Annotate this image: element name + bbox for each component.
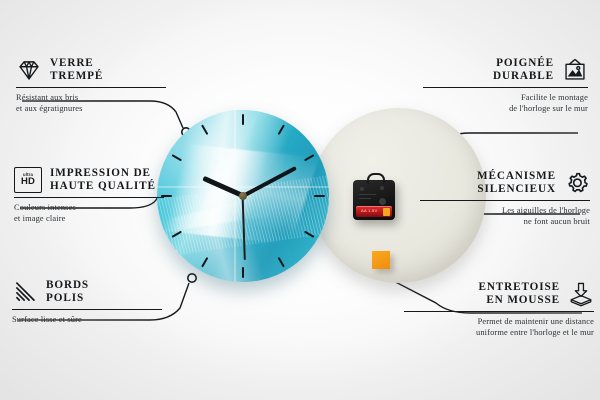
- feature-header: BORDS POLIS: [12, 279, 162, 305]
- feature-desc-line2: et aux égratignures: [16, 103, 166, 114]
- feature-title-line2: POLIS: [46, 292, 89, 305]
- hour-marker: [242, 114, 244, 125]
- clock-mechanism: AA 1.5V: [353, 180, 395, 220]
- feature-desc-line1: Résistant aux bris: [16, 92, 166, 103]
- feature-title: POIGNÉE DURABLE: [493, 57, 554, 83]
- feature-header: POIGNÉE DURABLE: [423, 57, 588, 83]
- picture-frame-icon: [562, 57, 588, 83]
- feature-verre-trempe: VERRE TREMPÉ Résistant aux bris et aux é…: [16, 57, 166, 114]
- feature-impression-haute-qualite: ultra HD IMPRESSION DE HAUTE QUALITÉ Cou…: [14, 167, 164, 224]
- gear-icon: [564, 170, 590, 196]
- feature-title-line2: TREMPÉ: [50, 70, 103, 83]
- feature-desc-line1: Facilite le montage: [423, 92, 588, 103]
- feature-mecanisme-silencieux: MÉCANISME SILENCIEUX Les aiguilles de l'…: [420, 170, 590, 227]
- mechanism-detail: [360, 187, 364, 191]
- feature-divider: [404, 311, 594, 312]
- hour-marker: [278, 257, 285, 268]
- feature-title: IMPRESSION DE HAUTE QUALITÉ: [50, 167, 156, 193]
- feature-title: VERRE TREMPÉ: [50, 57, 103, 83]
- feature-header: MÉCANISME SILENCIEUX: [420, 170, 590, 196]
- mechanism-battery: AA 1.5V: [356, 206, 392, 217]
- feature-header: VERRE TREMPÉ: [16, 57, 166, 83]
- diamond-icon: [16, 57, 42, 83]
- feature-divider: [420, 200, 590, 201]
- mechanism-detail: [359, 194, 376, 195]
- mechanism-hanger-icon: [367, 173, 385, 184]
- mechanism-detail: [359, 198, 371, 199]
- feature-desc-line2: uniforme entre l'horloge et le mur: [404, 327, 594, 338]
- clock-front-view: [157, 110, 329, 282]
- feature-divider: [16, 87, 166, 88]
- feature-title-line2: HAUTE QUALITÉ: [50, 180, 156, 193]
- battery-label: AA 1.5V: [361, 208, 378, 213]
- feature-desc-line1: Les aiguilles de l'horloge: [420, 205, 590, 216]
- mechanism-detail: [379, 198, 386, 205]
- feature-desc-line2: ne font aucun bruit: [420, 216, 590, 227]
- polished-edges-icon: [12, 279, 38, 305]
- feature-desc-line1: Couleurs intenses: [14, 202, 164, 213]
- hour-marker: [314, 195, 325, 197]
- connector-dot-bords-polis: [188, 274, 196, 282]
- feature-header: ENTRETOISE EN MOUSSE: [404, 281, 594, 307]
- hour-marker: [304, 154, 315, 161]
- feature-title-line1: VERRE: [50, 57, 103, 70]
- hour-marker: [242, 267, 244, 278]
- feature-title-line1: MÉCANISME: [477, 170, 556, 183]
- feature-divider: [12, 309, 162, 310]
- foam-spacer-sample: [372, 251, 390, 269]
- feature-title-line1: ENTRETOISE: [478, 281, 560, 294]
- infographic-canvas: AA 1.5V: [0, 0, 600, 400]
- battery-plus-terminal: [383, 208, 390, 216]
- feature-divider: [423, 87, 588, 88]
- feature-entretoise-en-mousse: ENTRETOISE EN MOUSSE Permet de maintenir…: [404, 281, 594, 338]
- feature-title-line1: POIGNÉE: [493, 57, 554, 70]
- feature-title-line1: BORDS: [46, 279, 89, 292]
- feature-title-line2: EN MOUSSE: [478, 294, 560, 307]
- feature-desc-line1: Surface lisse et sûre: [12, 314, 162, 325]
- feature-desc-line1: Permet de maintenir une distance: [404, 316, 594, 327]
- feature-desc-line2: et image claire: [14, 213, 164, 224]
- clock-center-cap: [239, 192, 247, 200]
- feature-title: MÉCANISME SILENCIEUX: [477, 170, 556, 196]
- ultra-hd-icon-big-label: HD: [21, 177, 35, 187]
- feature-bords-polis: BORDS POLIS Surface lisse et sûre: [12, 279, 162, 325]
- foam-spacer-icon: [568, 281, 594, 307]
- mechanism-detail: [380, 186, 384, 190]
- feature-title-line2: DURABLE: [493, 70, 554, 83]
- ultra-hd-icon: ultra HD: [14, 167, 42, 193]
- feature-header: ultra HD IMPRESSION DE HAUTE QUALITÉ: [14, 167, 164, 193]
- feature-title: BORDS POLIS: [46, 279, 89, 305]
- feature-poignee-durable: POIGNÉE DURABLE Facilite le montage de l…: [423, 57, 588, 114]
- feature-title-line2: SILENCIEUX: [477, 183, 556, 196]
- feature-desc-line2: de l'horloge sur le mur: [423, 103, 588, 114]
- feature-title-line1: IMPRESSION DE: [50, 167, 156, 180]
- feature-divider: [14, 197, 164, 198]
- feature-title: ENTRETOISE EN MOUSSE: [478, 281, 560, 307]
